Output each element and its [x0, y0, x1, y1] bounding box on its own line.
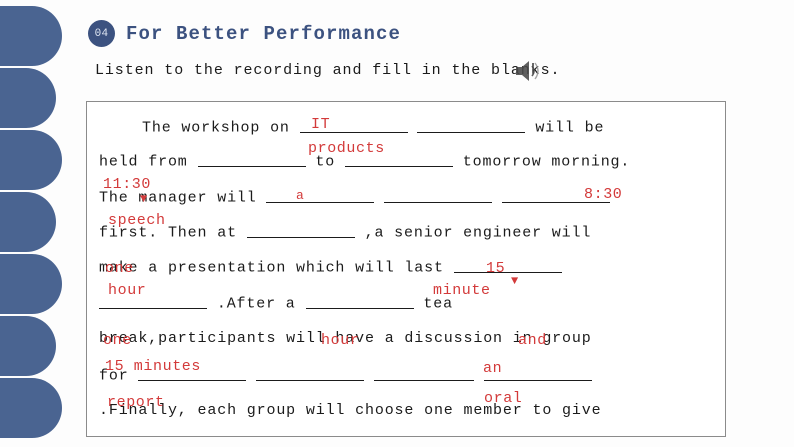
passage-text: .After a	[207, 295, 306, 312]
fill-in-blank[interactable]	[266, 188, 374, 203]
page-title: For Better Performance	[126, 23, 401, 45]
petal-shape	[0, 378, 62, 438]
slide-header: 04 For Better Performance	[88, 20, 401, 47]
line-9: .Finally, each group will choose one mem…	[99, 402, 601, 419]
petal-shape	[0, 192, 56, 252]
passage-text	[374, 189, 384, 206]
answer-hour-first: hour	[108, 282, 146, 299]
passage-text	[408, 119, 418, 136]
fill-in-blank[interactable]	[374, 366, 474, 381]
answer-speech: speech	[108, 212, 166, 229]
fill-in-blank[interactable]	[256, 366, 364, 381]
answer-hour-second: hour	[321, 332, 359, 349]
passage-text: .Finally, each group will choose one mem…	[99, 402, 601, 419]
petal-shape	[0, 316, 56, 376]
answer-products: products	[308, 140, 385, 157]
exercise-box: The workshop on will beheld from to tomo…	[86, 101, 726, 437]
answer-one-second: one	[103, 332, 132, 349]
passage-text	[492, 189, 502, 206]
answer-an: an	[483, 360, 502, 377]
answer-report: report	[107, 394, 165, 411]
petal-shape	[0, 6, 62, 66]
line-4: first. Then at ,a senior engineer will	[99, 223, 591, 241]
fill-in-blank[interactable]	[198, 152, 306, 167]
fill-in-blank[interactable]	[306, 294, 414, 309]
fill-in-blank[interactable]	[247, 223, 355, 238]
answer-one-first: one	[105, 260, 134, 277]
answer-a: a	[296, 188, 304, 203]
passage-text	[364, 367, 374, 384]
instruction-text: Listen to the recording and fill in the …	[95, 62, 560, 79]
decorative-petal-column	[0, 0, 72, 447]
passage-text: held from	[99, 153, 198, 170]
passage-text: The workshop on	[142, 119, 300, 136]
slide-number-badge: 04	[88, 20, 115, 47]
caret-11-30: ▼	[140, 192, 147, 206]
line-6: .After a tea	[99, 294, 453, 312]
answer-15-minutes: 15 minutes	[105, 358, 201, 375]
caret-15: ▼	[511, 274, 518, 288]
line-3: The manager will	[99, 188, 610, 206]
answer-minute: minute	[433, 282, 491, 299]
petal-shape	[0, 68, 56, 128]
fill-in-blank[interactable]	[454, 258, 562, 273]
passage-text: will be	[525, 119, 604, 136]
answer-oral: oral	[484, 390, 522, 407]
answer-11-30: 11:30	[103, 176, 151, 193]
speaker-icon[interactable]	[513, 58, 543, 84]
fill-in-blank[interactable]	[417, 118, 525, 133]
slide-canvas: 04 For Better Performance Listen to the …	[0, 0, 794, 447]
answer-it: IT	[311, 116, 330, 133]
fill-in-blank[interactable]	[384, 188, 492, 203]
answer-15: 15	[486, 260, 505, 277]
answer-and: and	[518, 332, 547, 349]
passage-text	[246, 367, 256, 384]
line-1: The workshop on will be	[142, 118, 604, 136]
petal-shape	[0, 130, 62, 190]
answer-8-30: 8:30	[584, 186, 622, 203]
petal-shape	[0, 254, 62, 314]
passage-text: ,a senior engineer will	[355, 224, 591, 241]
passage-text: make a presentation which will last	[99, 259, 454, 276]
passage-text: tomorrow morning.	[453, 153, 630, 170]
